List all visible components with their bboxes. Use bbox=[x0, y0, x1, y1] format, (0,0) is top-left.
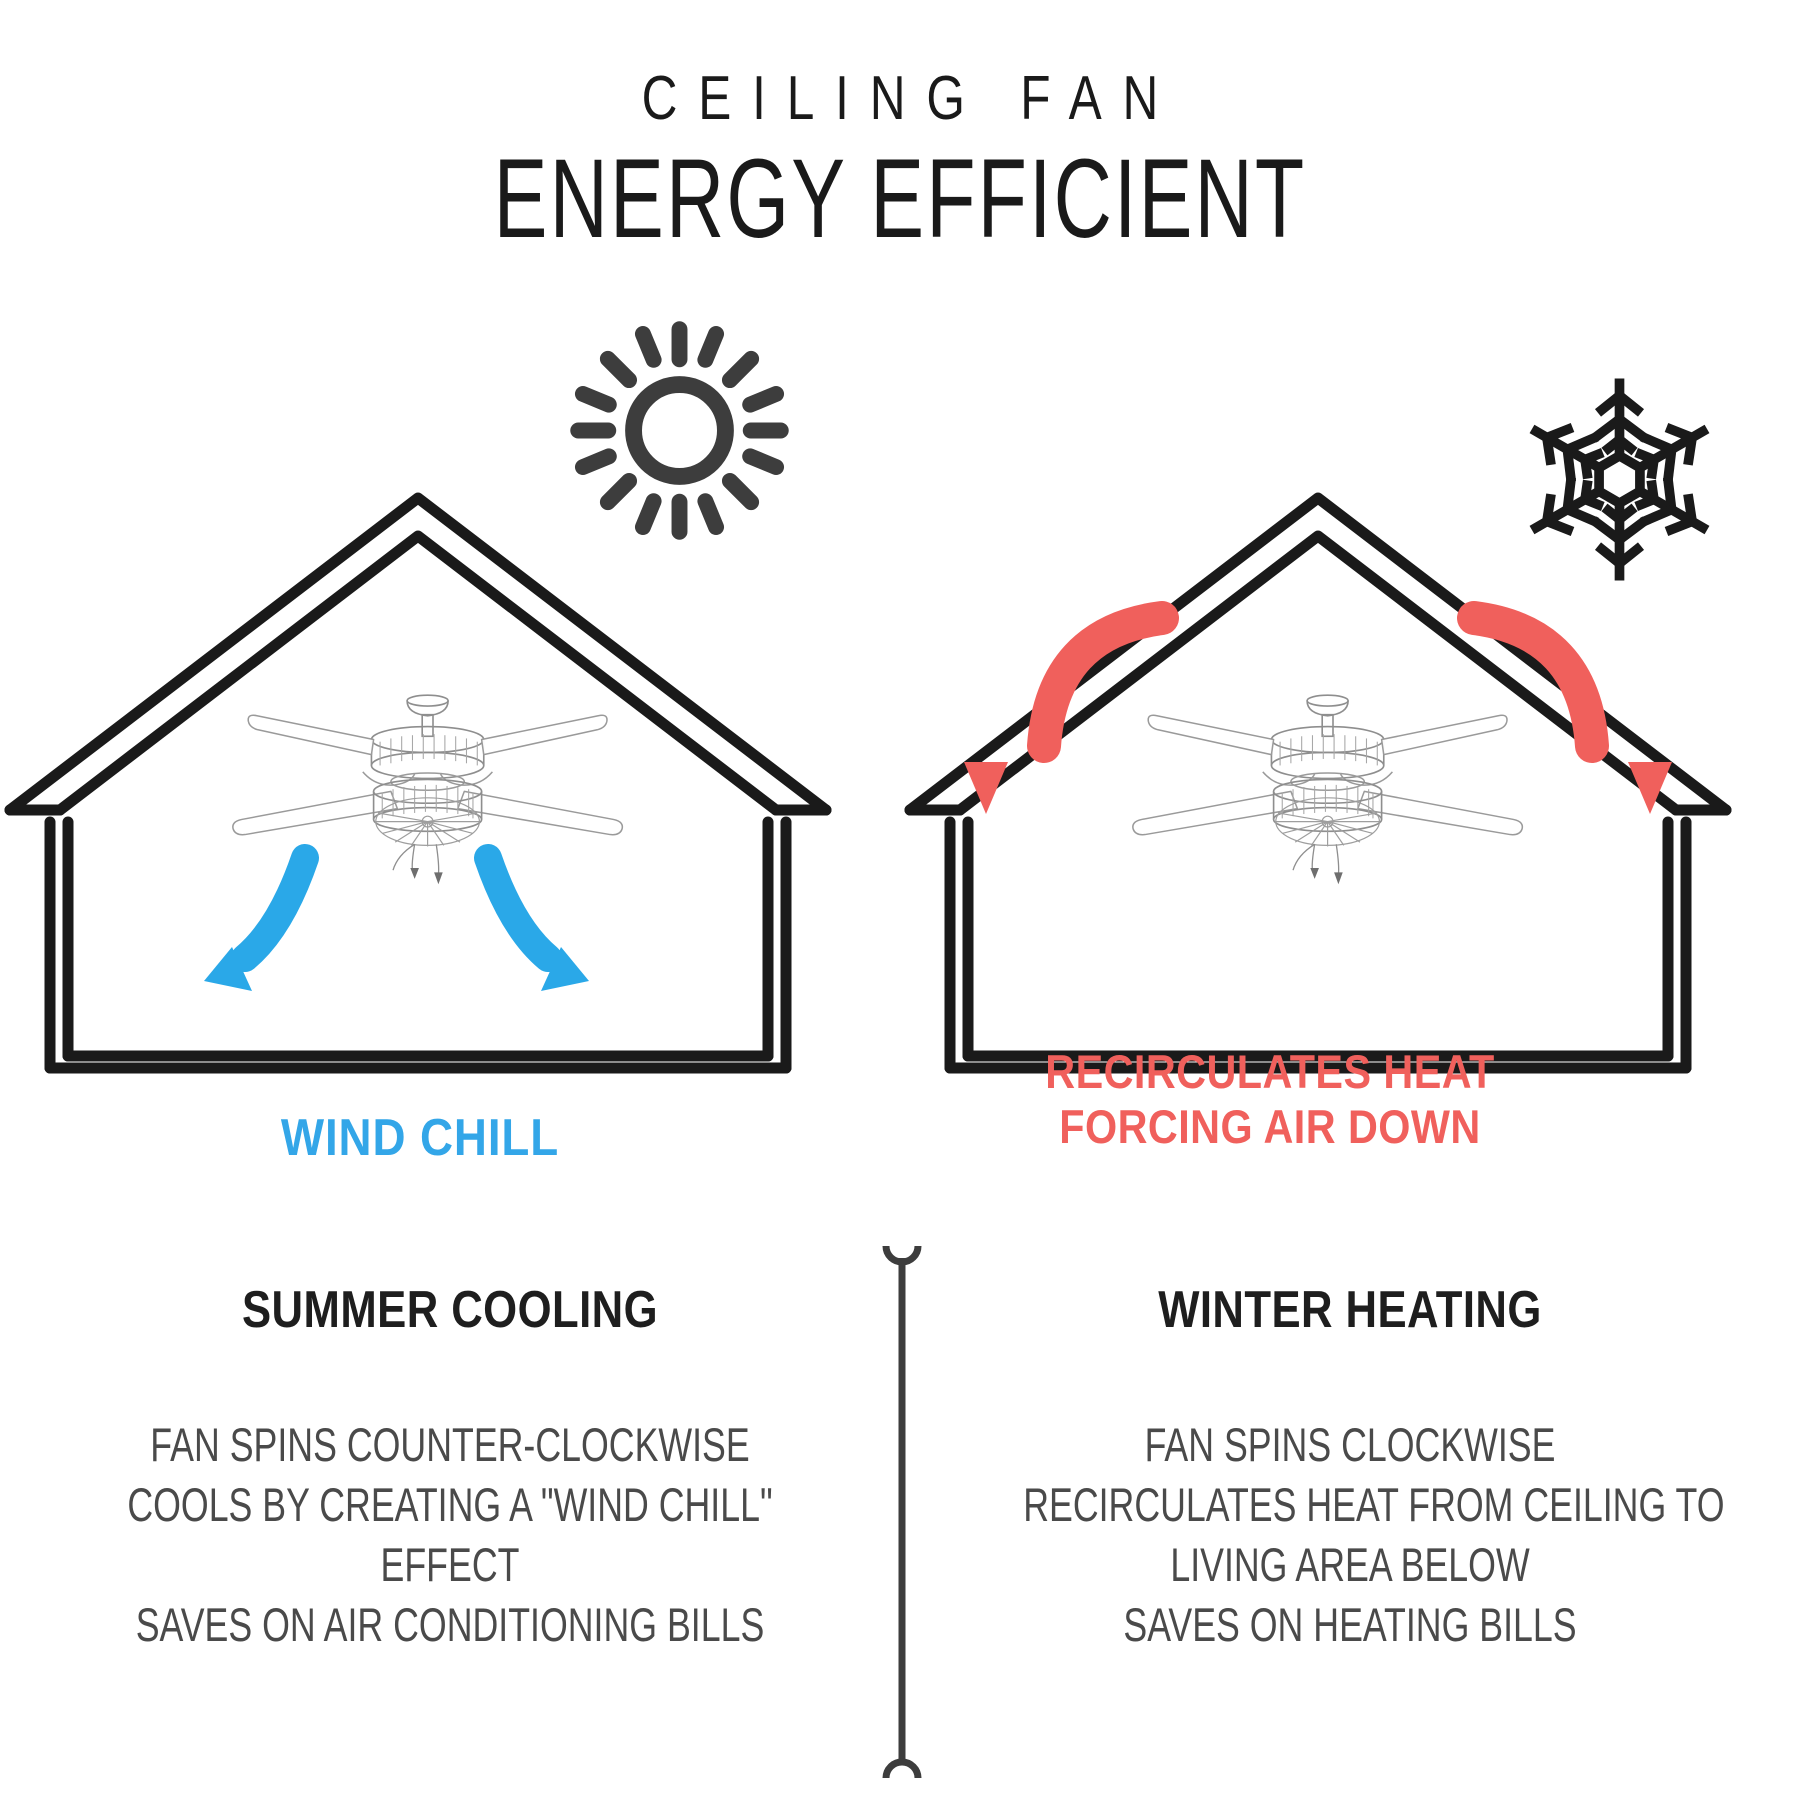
winter-body-line-3: LIVING AREA BELOW bbox=[1023, 1535, 1677, 1595]
summer-airflow-arrows bbox=[204, 858, 589, 991]
summer-body-line-2: COOLS BY CREATING A "WIND CHILL" bbox=[123, 1475, 777, 1535]
winter-body-line-1: FAN SPINS CLOCKWISE bbox=[1023, 1415, 1677, 1475]
winter-heating-body: FAN SPINS CLOCKWISE RECIRCULATES HEAT FR… bbox=[1023, 1415, 1677, 1656]
center-divider bbox=[862, 1242, 942, 1782]
summer-body-line-4: SAVES ON AIR CONDITIONING BILLS bbox=[123, 1595, 777, 1655]
winter-body-line-2: RECIRCULATES HEAT FROM CEILING TO bbox=[1023, 1475, 1677, 1535]
winter-heating-heading: WINTER HEATING bbox=[1022, 1280, 1677, 1340]
summer-cooling-heading: SUMMER COOLING bbox=[122, 1280, 777, 1340]
winter-body-line-4: SAVES ON HEATING BILLS bbox=[1023, 1595, 1677, 1655]
summer-cooling-body: FAN SPINS COUNTER-CLOCKWISE COOLS BY CRE… bbox=[123, 1415, 777, 1656]
page-title: ENERGY EFFICIENT bbox=[252, 143, 1548, 255]
summer-body-line-3: EFFECT bbox=[123, 1535, 777, 1595]
winter-house-illustration bbox=[900, 470, 1800, 1110]
summer-house-illustration bbox=[0, 470, 900, 1110]
ceiling-fan-icon bbox=[1133, 695, 1523, 884]
recirculates-heat-line-1: RECIRCULATES HEAT bbox=[997, 1045, 1543, 1100]
winter-airflow-arrows bbox=[964, 618, 1672, 814]
recirculates-heat-label: RECIRCULATES HEAT FORCING AIR DOWN bbox=[997, 1045, 1543, 1154]
summer-body-line-1: FAN SPINS COUNTER-CLOCKWISE bbox=[123, 1415, 777, 1475]
wind-chill-label: WIND CHILL bbox=[147, 1108, 693, 1168]
page-eyebrow-title: CEILING FAN bbox=[180, 68, 1620, 130]
recirculates-heat-line-2: FORCING AIR DOWN bbox=[997, 1100, 1543, 1155]
